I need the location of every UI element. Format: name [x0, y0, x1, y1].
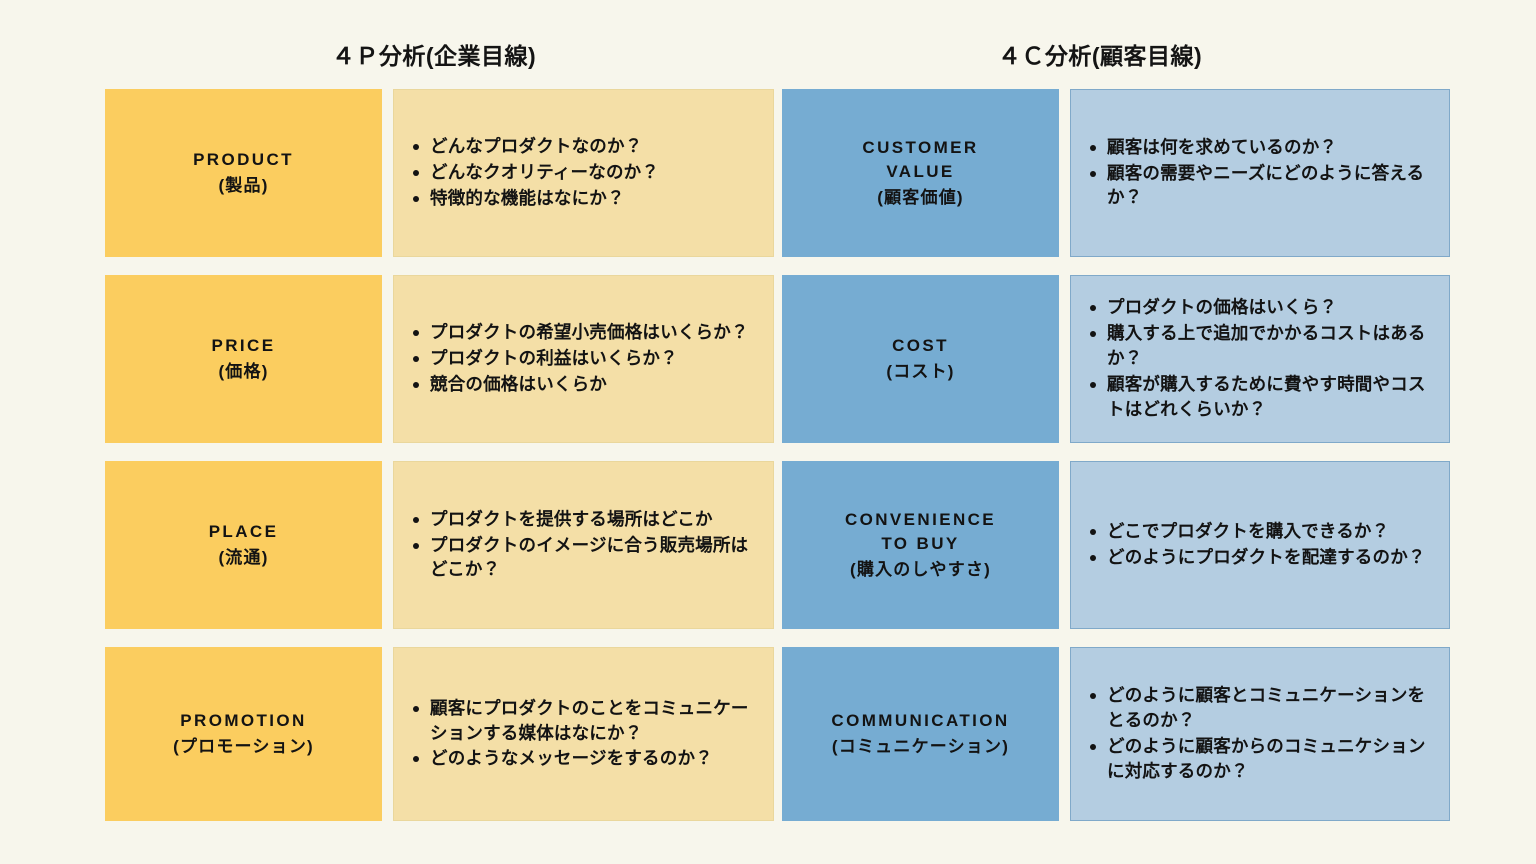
bullet-item: どのようにプロダクトを配達するのか？	[1107, 545, 1435, 570]
label-cell-product: PRODUCT(製品)	[105, 89, 382, 257]
column-gap	[1059, 89, 1070, 257]
detail-cell-convenience-to-buy: どこでプロダクトを購入できるか？どのようにプロダクトを配達するのか？	[1070, 461, 1450, 629]
label-title-jp: (プロモーション)	[173, 735, 314, 760]
label-title-en: COST	[892, 334, 949, 358]
label-title-jp: (製品)	[218, 174, 268, 199]
label-cell-promotion: PROMOTION(プロモーション)	[105, 647, 382, 821]
column-gap	[382, 647, 393, 821]
label-title-en: PLACE	[209, 520, 279, 544]
bullet-item: どんなプロダクトなのか？	[430, 134, 759, 159]
bullet-list: どのように顧客とコミュニケーションをとるのか？どのように顧客からのコミュニケショ…	[1081, 683, 1435, 784]
detail-cell-price: プロダクトの希望小売価格はいくらか？プロダクトの利益はいくらか？競合の価格はいく…	[393, 275, 774, 443]
bullet-item: プロダクトのイメージに合う販売場所はどこか？	[430, 533, 759, 583]
column-heading-4c: ４Ｃ分析(顧客目線)	[770, 40, 1430, 72]
bullet-list: どこでプロダクトを購入できるか？どのようにプロダクトを配達するのか？	[1081, 519, 1435, 571]
label-title-jp: (コミュニケーション)	[832, 735, 1009, 760]
matrix-row: PROMOTION(プロモーション) 顧客にプロダクトのことをコミュニケーション…	[105, 647, 1450, 821]
label-title-jp: (流通)	[218, 546, 268, 571]
group-gap	[774, 461, 782, 629]
bullet-item: プロダクトの価格はいくら？	[1107, 295, 1435, 320]
label-title-en: PRICE	[212, 334, 276, 358]
detail-cell-communication: どのように顧客とコミュニケーションをとるのか？どのように顧客からのコミュニケショ…	[1070, 647, 1450, 821]
column-gap	[382, 275, 393, 443]
column-heading-4p: ４Ｐ分析(企業目線)	[105, 40, 763, 72]
bullet-item: どのようなメッセージをするのか？	[430, 746, 759, 771]
detail-cell-customer-value: 顧客は何を求めているのか？顧客の需要やニーズにどのように答えるか？	[1070, 89, 1450, 257]
bullet-item: 顧客が購入するために費やす時間やコストはどれくらいか？	[1107, 372, 1435, 422]
label-cell-cost: COST(コスト)	[782, 275, 1059, 443]
label-title-en: COMMUNICATION	[831, 709, 1009, 733]
bullet-list: 顧客は何を求めているのか？顧客の需要やニーズにどのように答えるか？	[1081, 135, 1435, 212]
matrix-row: PRICE(価格) プロダクトの希望小売価格はいくらか？プロダクトの利益はいくら…	[105, 275, 1450, 443]
analysis-matrix: PRODUCT(製品) どんなプロダクトなのか？どんなクオリティーなのか？特徴的…	[105, 89, 1430, 823]
bullet-item: プロダクトを提供する場所はどこか	[430, 507, 759, 532]
bullet-item: 顧客は何を求めているのか？	[1107, 135, 1435, 160]
label-cell-price: PRICE(価格)	[105, 275, 382, 443]
detail-cell-promotion: 顧客にプロダクトのことをコミュニケーションする媒体はなにか？どのようなメッセージ…	[393, 647, 774, 821]
label-cell-place: PLACE(流通)	[105, 461, 382, 629]
matrix-row: PRODUCT(製品) どんなプロダクトなのか？どんなクオリティーなのか？特徴的…	[105, 89, 1450, 257]
column-gap	[1059, 461, 1070, 629]
label-cell-communication: COMMUNICATION(コミュニケーション)	[782, 647, 1059, 821]
diagram-canvas: ４Ｐ分析(企業目線) ４Ｃ分析(顧客目線) PRODUCT(製品) どんなプロダ…	[0, 0, 1536, 864]
bullet-item: 顧客の需要やニーズにどのように答えるか？	[1107, 161, 1435, 211]
column-gap	[382, 89, 393, 257]
column-gap	[382, 461, 393, 629]
bullet-list: 顧客にプロダクトのことをコミュニケーションする媒体はなにか？どのようなメッセージ…	[404, 696, 759, 773]
bullet-item: プロダクトの希望小売価格はいくらか？	[430, 320, 759, 345]
bullet-item: どのように顧客からのコミュニケションに対応するのか？	[1107, 734, 1435, 784]
label-cell-customer-value: CUSTOMER VALUE(顧客価値)	[782, 89, 1059, 257]
matrix-row: PLACE(流通) プロダクトを提供する場所はどこかプロダクトのイメージに合う販…	[105, 461, 1450, 629]
label-title-en: CONVENIENCE TO BUY	[845, 508, 996, 556]
detail-cell-cost: プロダクトの価格はいくら？購入する上で追加でかかるコストはあるか？顧客が購入する…	[1070, 275, 1450, 443]
label-title-jp: (購入のしやすさ)	[850, 558, 991, 583]
detail-cell-product: どんなプロダクトなのか？どんなクオリティーなのか？特徴的な機能はなにか？	[393, 89, 774, 257]
label-cell-convenience-to-buy: CONVENIENCE TO BUY(購入のしやすさ)	[782, 461, 1059, 629]
column-gap	[1059, 275, 1070, 443]
label-title-jp: (価格)	[218, 360, 268, 385]
label-title-en: PRODUCT	[193, 148, 294, 172]
label-title-jp: (コスト)	[886, 360, 954, 385]
group-gap	[774, 647, 782, 821]
bullet-list: どんなプロダクトなのか？どんなクオリティーなのか？特徴的な機能はなにか？	[404, 134, 759, 212]
bullet-item: どんなクオリティーなのか？	[430, 160, 759, 185]
bullet-list: プロダクトの価格はいくら？購入する上で追加でかかるコストはあるか？顧客が購入する…	[1081, 295, 1435, 422]
detail-cell-place: プロダクトを提供する場所はどこかプロダクトのイメージに合う販売場所はどこか？	[393, 461, 774, 629]
label-title-jp: (顧客価値)	[877, 186, 964, 211]
label-title-en: CUSTOMER VALUE	[862, 136, 978, 184]
bullet-list: プロダクトを提供する場所はどこかプロダクトのイメージに合う販売場所はどこか？	[404, 507, 759, 584]
bullet-item: 顧客にプロダクトのことをコミュニケーションする媒体はなにか？	[430, 696, 759, 746]
group-gap	[774, 275, 782, 443]
bullet-item: どこでプロダクトを購入できるか？	[1107, 519, 1435, 544]
bullet-item: 競合の価格はいくらか	[430, 372, 759, 397]
bullet-item: 特徴的な機能はなにか？	[430, 186, 759, 211]
group-gap	[774, 89, 782, 257]
bullet-list: プロダクトの希望小売価格はいくらか？プロダクトの利益はいくらか？競合の価格はいく…	[404, 320, 759, 398]
bullet-item: どのように顧客とコミュニケーションをとるのか？	[1107, 683, 1435, 733]
column-gap	[1059, 647, 1070, 821]
bullet-item: 購入する上で追加でかかるコストはあるか？	[1107, 321, 1435, 371]
label-title-en: PROMOTION	[180, 709, 306, 733]
bullet-item: プロダクトの利益はいくらか？	[430, 346, 759, 371]
